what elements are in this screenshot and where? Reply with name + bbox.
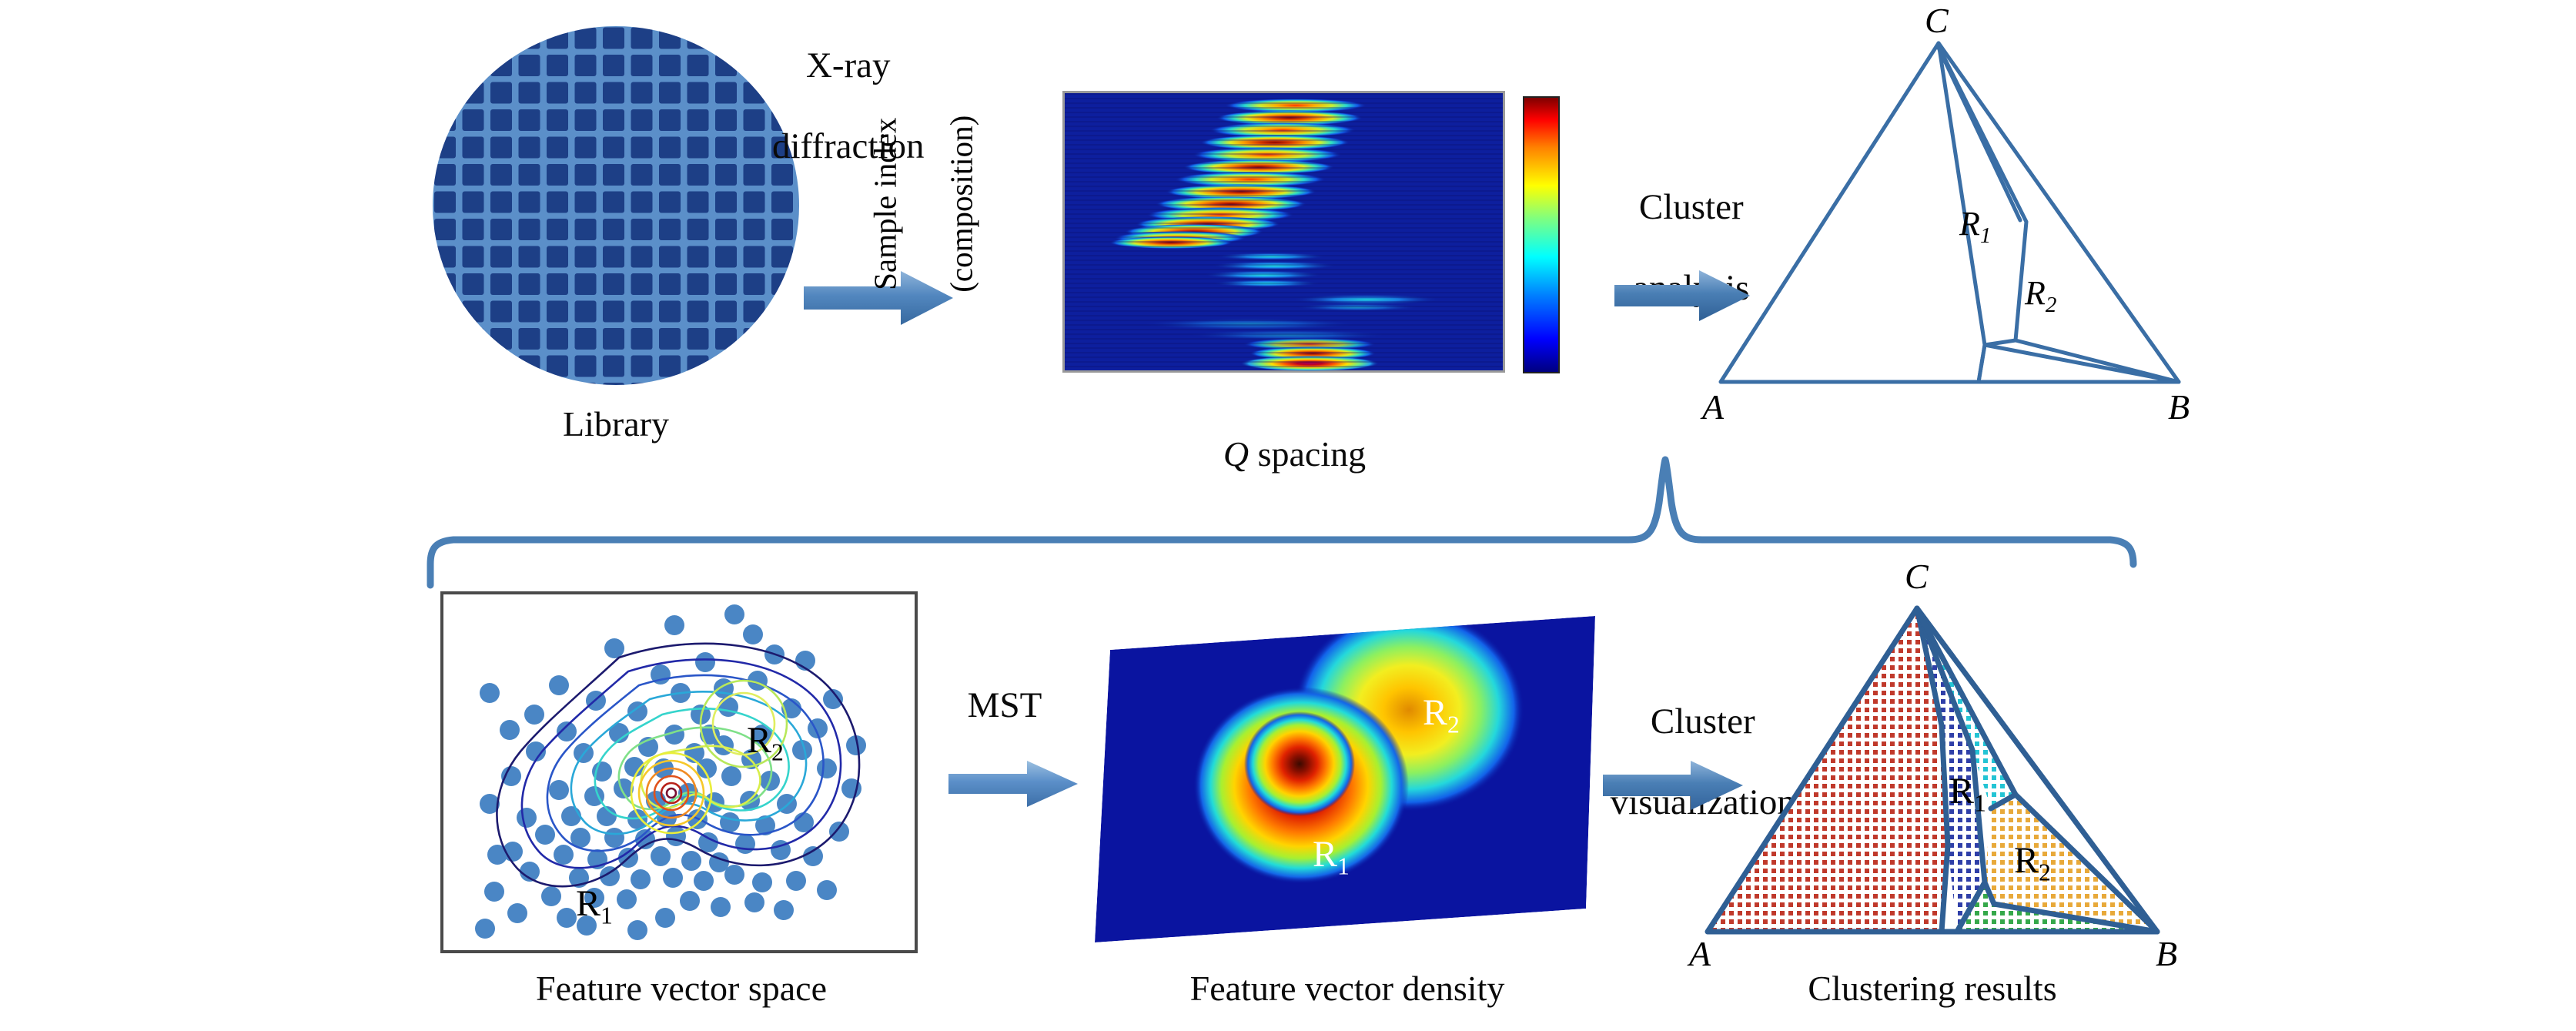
heatmap-ylabel: Sample index (composition) bbox=[829, 81, 981, 343]
feature-vector-density-caption: Feature vector density bbox=[1062, 969, 1632, 1009]
heatmap-colorbar bbox=[1523, 96, 1560, 373]
arrow-mst bbox=[947, 758, 1079, 809]
library-caption: Library bbox=[431, 404, 801, 444]
ylabel-line1: Sample index bbox=[868, 118, 903, 290]
fs-r2-sub: 2 bbox=[771, 739, 784, 766]
xrd-heatmap bbox=[1062, 91, 1505, 373]
r2-letter: R bbox=[2025, 274, 2046, 312]
results-region-1: R1 bbox=[1949, 770, 1986, 818]
scatter-points bbox=[475, 604, 866, 940]
ternary-clustering-results bbox=[1686, 571, 2179, 956]
r1-letter: R bbox=[1959, 205, 1980, 243]
ternary-top-region-1: R1 bbox=[1959, 204, 1991, 249]
res-r2-letter: R bbox=[2014, 840, 2039, 881]
r2-sub: 2 bbox=[2046, 293, 2057, 317]
results-region-2: R2 bbox=[2014, 839, 2051, 887]
feature-space-region-2: R2 bbox=[747, 719, 784, 767]
ternary-cluster-analysis bbox=[1694, 14, 2202, 407]
r1-sub: 1 bbox=[1980, 223, 1992, 248]
res-r1-sub: 1 bbox=[1974, 790, 1986, 817]
results-vertex-c: C bbox=[1905, 556, 1929, 597]
res-r2-sub: 2 bbox=[2039, 859, 2051, 886]
ternary-top-vertex-c: C bbox=[1925, 0, 1949, 41]
density-region-2: R2 bbox=[1423, 691, 1460, 739]
dn-r2-letter: R bbox=[1423, 692, 1447, 733]
feature-space-region-1: R1 bbox=[576, 882, 613, 930]
xray-line1: X-ray bbox=[806, 45, 891, 85]
ternary-top-region-2: R2 bbox=[2025, 273, 2056, 318]
dn-r1-sub: 1 bbox=[1337, 853, 1350, 880]
dn-r2-sub: 2 bbox=[1447, 711, 1460, 738]
density-region-1: R1 bbox=[1313, 833, 1350, 881]
fs-r1-letter: R bbox=[576, 883, 601, 924]
clustering-results-caption: Clustering results bbox=[1686, 969, 2179, 1009]
ternary-top-vertex-a: A bbox=[1702, 387, 1724, 427]
phase-region-red bbox=[1708, 608, 1948, 932]
dn-r1-letter: R bbox=[1313, 834, 1337, 875]
fs-r2-letter: R bbox=[747, 720, 771, 761]
ternary-top-vertex-b: B bbox=[2168, 387, 2190, 427]
res-r1-letter: R bbox=[1949, 771, 1974, 812]
feature-vector-space-caption: Feature vector space bbox=[416, 969, 947, 1009]
feature-vector-density bbox=[1078, 602, 1617, 956]
fs-r1-sub: 1 bbox=[601, 902, 613, 929]
feature-vector-space-panel bbox=[440, 591, 918, 953]
flow-brace bbox=[420, 458, 2136, 566]
mst-label: MST bbox=[935, 685, 1074, 726]
ylabel-line2: (composition) bbox=[943, 115, 979, 293]
